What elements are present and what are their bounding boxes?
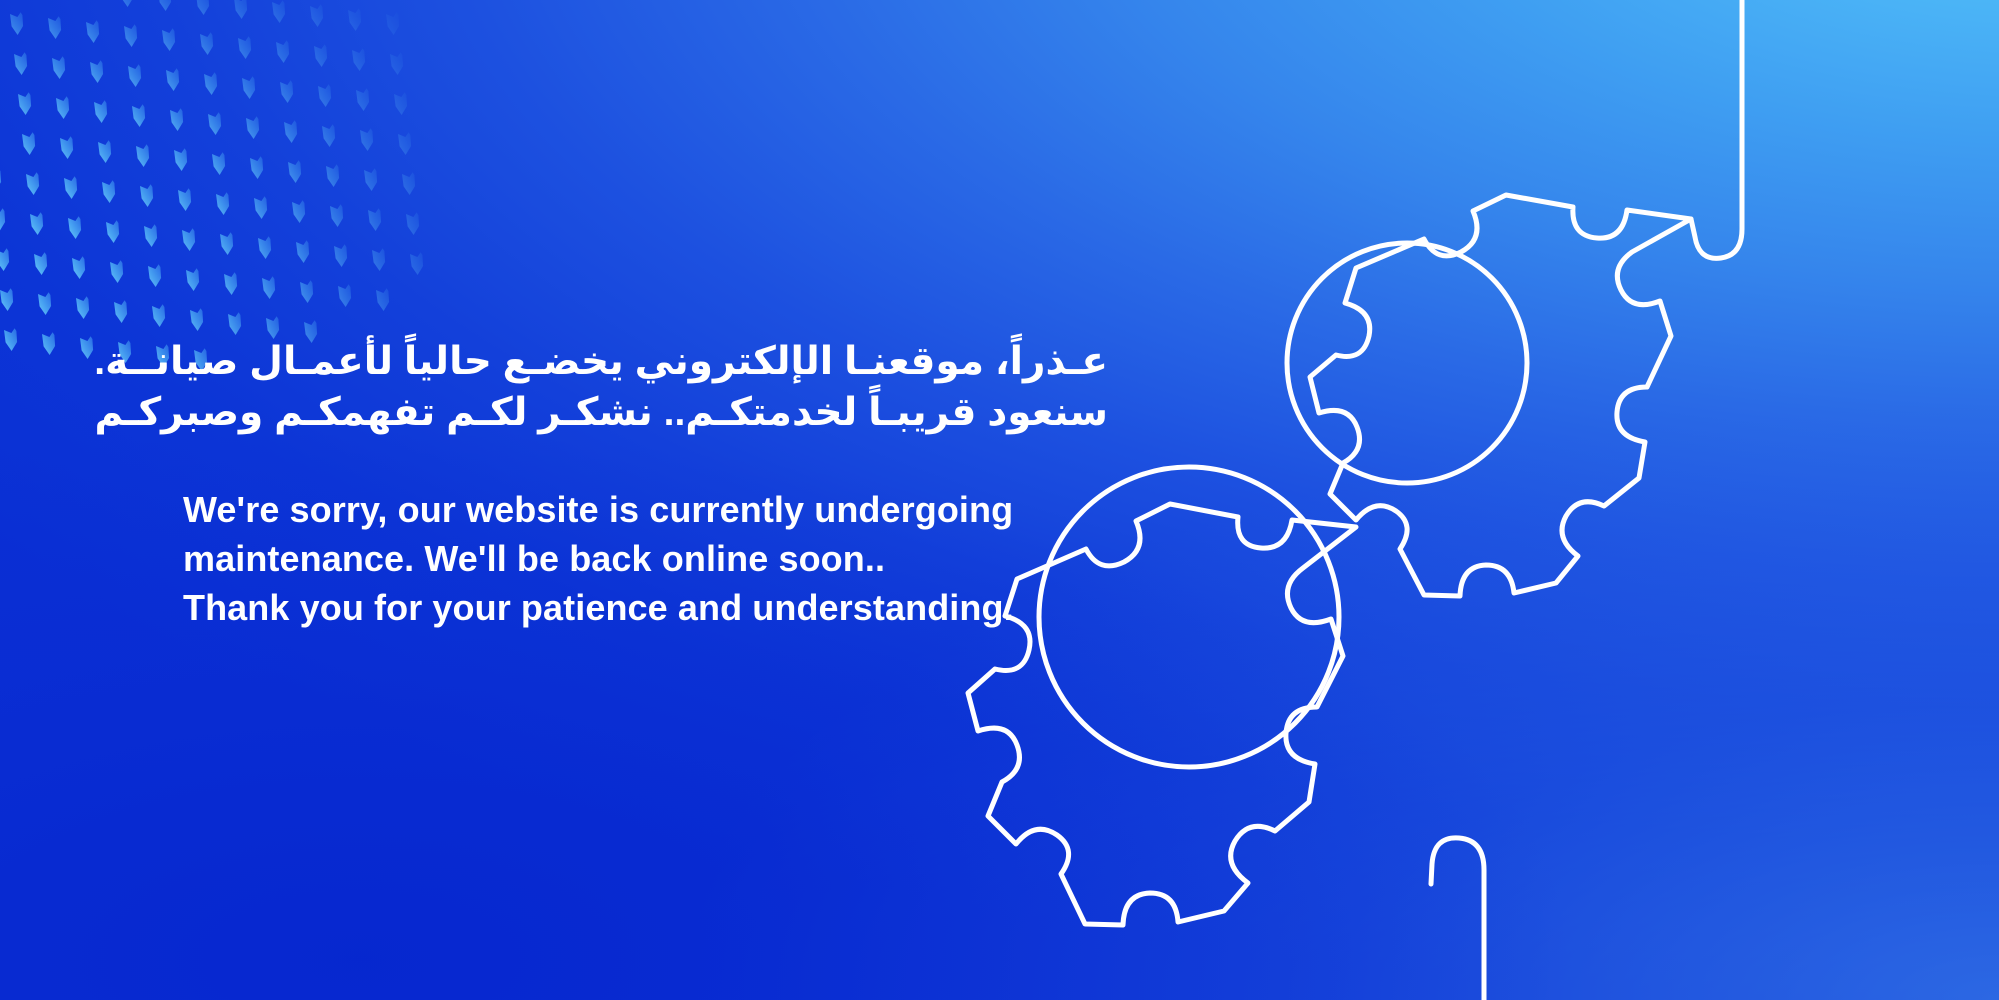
english-message-line-3: Thank you for your patience and understa… (183, 584, 1163, 633)
arabic-message-line-1: عـذراً، موقعنـا الإلكتروني يخضـع حالياً … (183, 337, 1108, 388)
english-message-line-1: We're sorry, our website is currently un… (183, 486, 1163, 535)
maintenance-page: عـذراً، موقعنـا الإلكتروني يخضـع حالياً … (0, 0, 1999, 1000)
arabic-message-line-2: سنعود قريبـاً لخدمتكـم.. نشكـر لكـم تفهم… (183, 388, 1108, 439)
arabic-message: عـذراً، موقعنـا الإلكتروني يخضـع حالياً … (183, 337, 1108, 438)
message-block: عـذراً، موقعنـا الإلكتروني يخضـع حالياً … (183, 337, 1163, 632)
english-message: We're sorry, our website is currently un… (183, 486, 1163, 632)
english-message-line-2: maintenance. We'll be back online soon.. (183, 535, 1163, 584)
